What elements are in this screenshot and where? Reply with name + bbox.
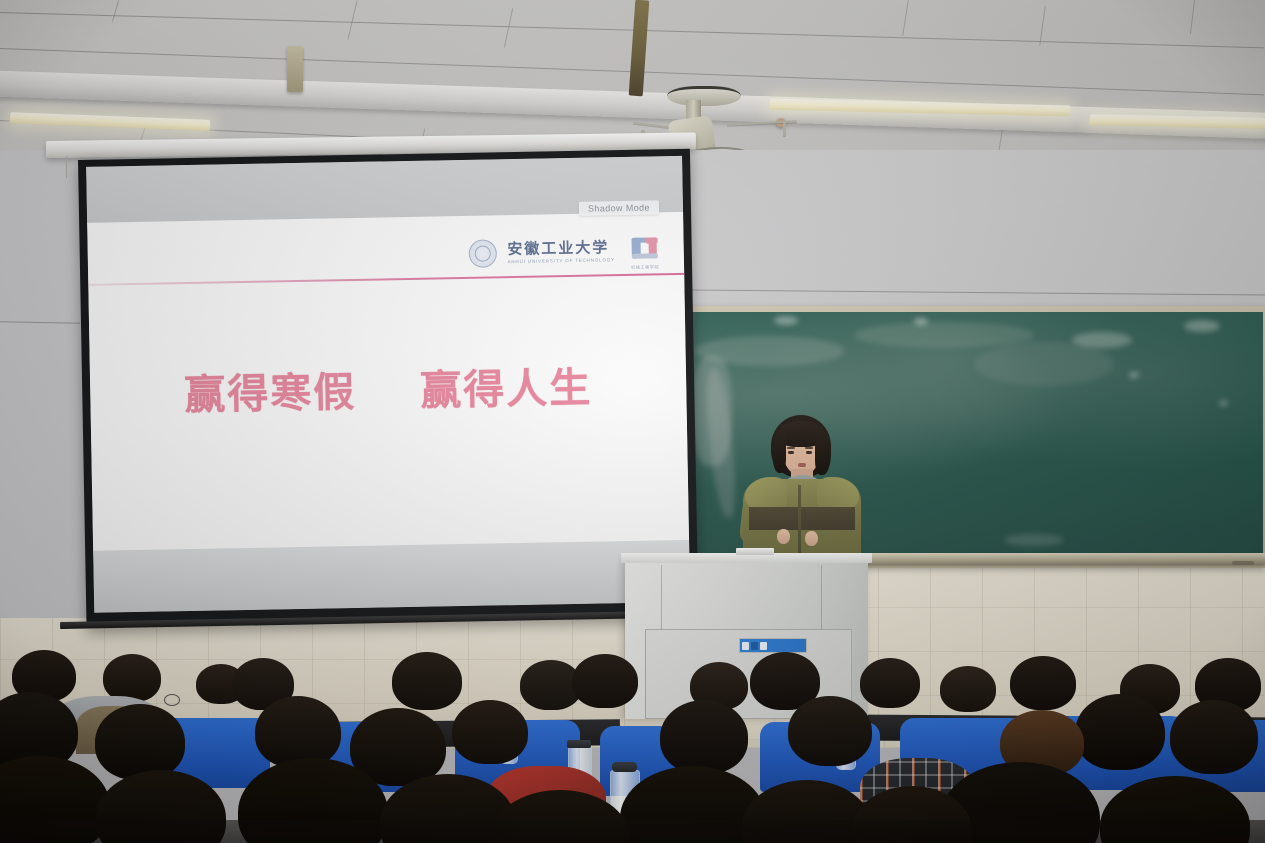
university-name-en: ANHUI UNIVERSITY OF TECHNOLOGY <box>508 258 615 264</box>
university-name-block: 安徽工业大学 ANHUI UNIVERSITY OF TECHNOLOGY <box>507 240 615 264</box>
slide-title-right: 赢得人生 <box>420 354 593 417</box>
presenter-eye-right <box>806 451 812 454</box>
audience-head-far-10 <box>860 658 920 708</box>
audience-head-far-5 <box>392 652 462 710</box>
audience-foreground-shoulders <box>0 820 1265 843</box>
podium-device <box>736 548 774 555</box>
slide-footer-band <box>93 540 690 613</box>
presenter-mouth <box>798 463 806 467</box>
slide-logos: 安徽工业大学 ANHUI UNIVERSITY OF TECHNOLOGY 机械… <box>468 236 660 268</box>
audience-head-mid-7 <box>788 696 872 766</box>
audience-head-mid-9 <box>1170 700 1258 774</box>
presenter-hair-side-right <box>815 431 831 475</box>
back-wall-upper-right <box>670 150 1265 310</box>
presenter-hood-right <box>817 477 859 511</box>
smoke-detector <box>287 46 303 92</box>
audience <box>0 640 1265 843</box>
shadow-mode-label: Shadow Mode <box>579 200 659 215</box>
university-name-cn: 安徽工业大学 <box>507 240 615 257</box>
projection-screen: Shadow Mode 安徽工业大学 ANHUI UNIVERSITY OF T… <box>78 149 698 628</box>
audience-glasses <box>164 694 180 706</box>
audience-head-mid-6 <box>660 700 748 774</box>
department-name-cn: 机械工程学院 <box>630 264 660 271</box>
audience-head-far-12 <box>1010 656 1076 710</box>
presenter-hand-left <box>777 529 790 544</box>
screen-hook <box>66 156 67 178</box>
presenter-jacket-chest-panel <box>749 507 855 530</box>
audience-head-far-11 <box>940 666 996 712</box>
audience-head-mid-3 <box>255 696 341 768</box>
slide-title-left: 赢得寒假 <box>184 358 357 421</box>
audience-head-mid-5 <box>452 700 528 764</box>
presenter-hood-left <box>745 477 787 511</box>
chalk-tray-nub-right <box>1232 561 1254 565</box>
slide-title: 赢得寒假 赢得人生 <box>90 352 687 423</box>
audience-head-mid-8 <box>1075 694 1165 770</box>
department-logo-icon: 机械工程学院 <box>630 236 661 265</box>
university-seal-icon <box>468 239 497 268</box>
water-bottle-cap-2 <box>567 740 591 748</box>
presenter <box>727 415 875 570</box>
presenter-hand-right <box>805 531 818 546</box>
audience-head-far-2 <box>103 654 161 702</box>
presenter-hair-side-left <box>772 431 786 473</box>
audience-head-mid-2 <box>95 704 185 780</box>
lecture-hall-photo: Shadow Mode 安徽工业大学 ANHUI UNIVERSITY OF T… <box>0 0 1265 843</box>
projected-slide: Shadow Mode 安徽工业大学 ANHUI UNIVERSITY OF T… <box>86 156 690 613</box>
audience-head-far-7 <box>572 654 638 708</box>
presenter-eye-left <box>788 451 794 454</box>
water-bottle-cap-3 <box>612 762 637 772</box>
